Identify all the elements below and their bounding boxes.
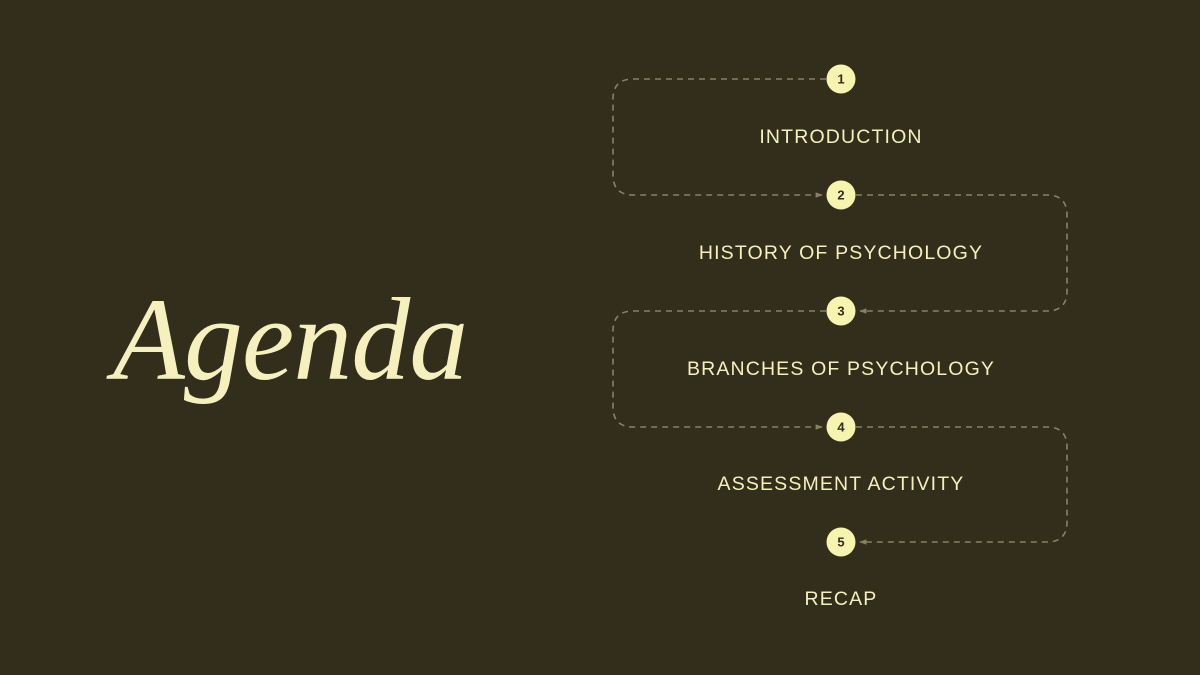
title-block: Agenda: [0, 0, 600, 675]
connector-lines: [600, 0, 1200, 675]
agenda-label-3: BRANCHES OF PSYCHOLOGY: [687, 360, 995, 380]
agenda-number-badge-1: 1: [827, 65, 856, 94]
agenda-list: 1 INTRODUCTION 2 HISTORY OF PSYCHOLOGY 3…: [600, 0, 1200, 675]
agenda-number-badge-5: 5: [827, 528, 856, 557]
agenda-label-1: INTRODUCTION: [759, 128, 922, 148]
agenda-label-2: HISTORY OF PSYCHOLOGY: [699, 244, 983, 264]
agenda-number-badge-3: 3: [827, 297, 856, 326]
agenda-slide: Agenda 1 INTRODUCTION: [0, 0, 1200, 675]
agenda-number-badge-2: 2: [827, 181, 856, 210]
agenda-number-badge-4: 4: [827, 413, 856, 442]
agenda-label-4: ASSESSMENT ACTIVITY: [718, 475, 965, 495]
agenda-label-5: RECAP: [805, 590, 878, 610]
page-title: Agenda: [113, 281, 467, 399]
